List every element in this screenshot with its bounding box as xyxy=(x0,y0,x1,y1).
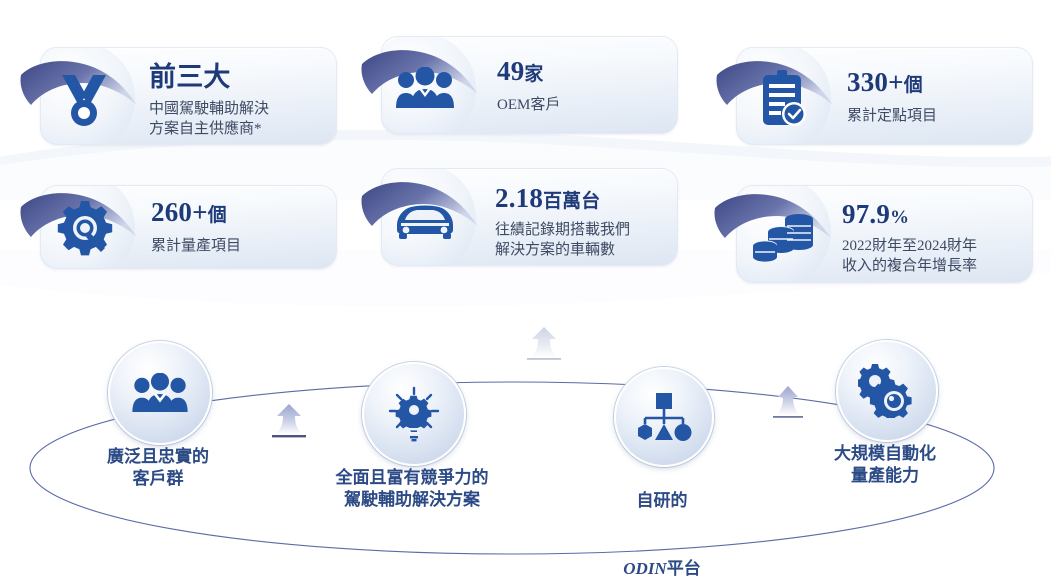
stat-description: 往績記錄期搭載我們 解決方案的車輛數 xyxy=(495,220,630,260)
pillar-circle xyxy=(614,367,714,467)
pillar-circle xyxy=(362,362,466,466)
card-text: 97.9% 2022財年至2024財年 收入的複合年增長率 xyxy=(842,198,977,276)
stat-number: 330+ xyxy=(847,67,904,97)
odin-wordmark: ODIN xyxy=(623,559,666,578)
stat-value: 前三大 xyxy=(149,61,269,97)
stat-unit: % xyxy=(890,207,909,228)
stat-description: 2022財年至2024財年 收入的複合年增長率 xyxy=(842,236,977,276)
stat-card-oem-customers: 49家 OEM客戶 xyxy=(381,36,678,134)
pillar-label: 廣泛且忠實的 客戶群 xyxy=(82,446,234,490)
card-text: 260+個 累計量產項目 xyxy=(151,196,241,256)
card-text: 49家 OEM客戶 xyxy=(497,55,560,115)
double-gear-icon xyxy=(858,364,916,418)
stat-number: 2.18 xyxy=(495,183,543,213)
medal-icon xyxy=(53,72,115,128)
coins-icon xyxy=(751,208,817,266)
stat-description: 累計定點項目 xyxy=(847,106,937,126)
lightbulb-gear-icon xyxy=(387,386,441,442)
pillar-label-line2: ODIN平台 xyxy=(588,536,736,578)
pillar-circle xyxy=(108,341,212,445)
stat-card-cumulative-designated-projects: 330+個 累計定點項目 xyxy=(736,47,1033,145)
stat-value: 97.9% xyxy=(842,198,977,234)
arrow-2 xyxy=(521,325,567,365)
card-text: 330+個 累計定點項目 xyxy=(847,66,937,126)
stat-number: 前三大 xyxy=(149,62,231,92)
people-group-icon xyxy=(394,65,456,111)
pillar-odin-platform: 自研的 ODIN平台 xyxy=(614,367,824,517)
stat-value: 330+個 xyxy=(847,66,937,102)
stat-unit: 家 xyxy=(524,64,543,85)
stat-card-cumulative-mass-production-projects: 260+個 累計量產項目 xyxy=(40,185,337,269)
people-group-icon xyxy=(131,373,189,413)
gear-wrench-icon xyxy=(55,198,117,258)
stat-card-top-three-supplier: 前三大 中國駕駛輔助解決 方案自主供應商* xyxy=(40,47,337,145)
stat-number: 260+ xyxy=(151,197,208,227)
odin-suffix: 平台 xyxy=(667,559,701,578)
clipboard-check-icon xyxy=(753,69,811,129)
stat-value: 2.18百萬台 xyxy=(495,182,630,218)
car-icon xyxy=(392,201,458,243)
stat-value: 49家 xyxy=(497,55,560,91)
pillar-label-line1: 自研的 xyxy=(588,490,736,512)
stat-number: 97.9 xyxy=(842,199,890,229)
stat-description: 中國駕駛輔助解決 方案自主供應商* xyxy=(149,99,269,139)
card-text: 2.18百萬台 往績記錄期搭載我們 解決方案的車輛數 xyxy=(495,182,630,260)
pillar-adas-solutions: 全面且富有競爭力的 駕駛輔助解決方案 xyxy=(362,362,572,512)
stat-description: OEM客戶 xyxy=(497,95,560,115)
stat-card-vehicles-equipped: 2.18百萬台 往績記錄期搭載我們 解決方案的車輛數 xyxy=(381,168,678,266)
pillar-label: 自研的 ODIN平台 xyxy=(588,468,736,578)
stat-description: 累計量產項目 xyxy=(151,236,241,256)
pillar-circle xyxy=(836,340,938,442)
stat-unit: 個 xyxy=(208,205,227,226)
stat-number: 49 xyxy=(497,56,524,86)
stat-card-revenue-cagr: 97.9% 2022財年至2024財年 收入的複合年增長率 xyxy=(736,185,1033,283)
hierarchy-icon xyxy=(636,393,692,441)
pillar-mass-production-capability: 大規模自動化 量產能力 xyxy=(836,340,1046,490)
stat-value: 260+個 xyxy=(151,196,241,232)
card-text: 前三大 中國駕駛輔助解決 方案自主供應商* xyxy=(149,61,269,139)
infographic-stage: 前三大 中國駕駛輔助解決 方案自主供應商* xyxy=(0,0,1051,578)
pillar-customer-base: 廣泛且忠實的 客戶群 xyxy=(108,341,318,491)
pillar-label: 全面且富有競爭力的 駕駛輔助解決方案 xyxy=(323,467,501,511)
stat-unit: 個 xyxy=(904,75,923,96)
stat-unit: 百萬台 xyxy=(543,191,600,212)
pillar-label: 大規模自動化 量產能力 xyxy=(814,443,956,487)
